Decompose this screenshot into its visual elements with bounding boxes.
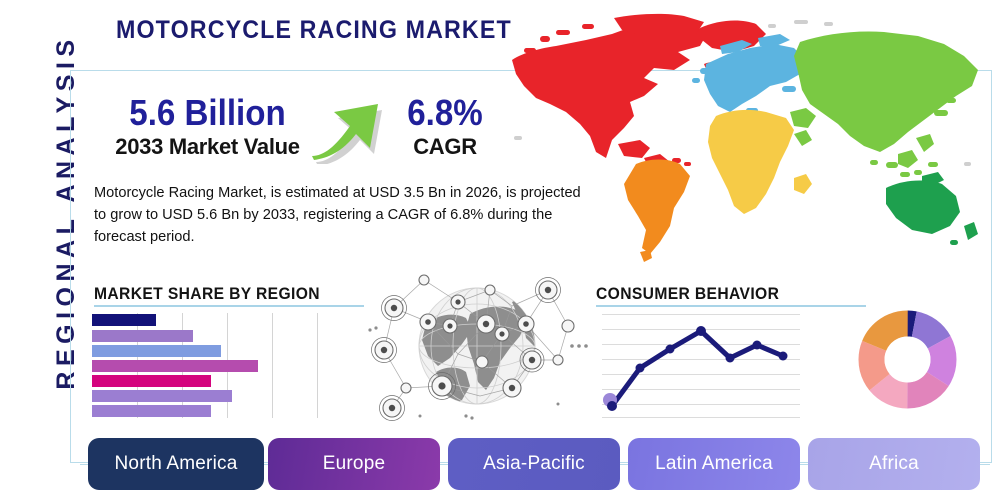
page-title: MOTORCYCLE RACING MARKET: [116, 16, 512, 45]
bar-chart-svg: [92, 313, 362, 418]
region-pill-latin-america[interactable]: Latin America: [628, 438, 800, 490]
growth-arrow-icon: [312, 84, 396, 164]
section-heading-market-share: MARKET SHARE BY REGION: [94, 284, 320, 304]
consumer-behavior-line-chart: [602, 312, 800, 420]
region-pill-asia-pacific[interactable]: Asia-Pacific: [448, 438, 620, 490]
region-pill-label: North America: [115, 453, 238, 475]
region-pill-label: Europe: [323, 453, 385, 475]
market-share-rule: [94, 305, 364, 307]
kpi-market-value-label: 2033 Market Value: [95, 134, 320, 159]
line-chart-svg: [602, 312, 800, 420]
side-label-regional-analysis: REGIONAL ANALYSIS: [52, 22, 92, 402]
region-pill-bar: North America Europe Asia-Pacific Latin …: [80, 438, 970, 490]
region-share-donut-chart: [855, 307, 960, 412]
market-share-bar-chart: [92, 313, 362, 418]
kpi-cagr-number: 6.8%: [394, 94, 495, 132]
region-pill-label: Latin America: [655, 453, 773, 475]
region-pill-north-america[interactable]: North America: [88, 438, 264, 490]
kpi-cagr: 6.8% CAGR: [390, 94, 500, 159]
network-globe-icon: [362, 268, 592, 428]
kpi-cagr-label: CAGR: [390, 134, 500, 159]
world-map-icon: [494, 12, 994, 267]
region-pill-label: Asia-Pacific: [483, 453, 585, 475]
region-pill-europe[interactable]: Europe: [268, 438, 440, 490]
section-heading-consumer-behavior: CONSUMER BEHAVIOR: [596, 284, 779, 304]
infographic-root: REGIONAL ANALYSIS MOTORCYCLE RACING MARK…: [0, 0, 1000, 500]
kpi-market-value-number: 5.6 Billion: [104, 94, 311, 132]
region-pill-africa[interactable]: Africa: [808, 438, 980, 490]
region-pill-label: Africa: [869, 453, 919, 475]
kpi-market-value: 5.6 Billion 2033 Market Value: [95, 94, 320, 159]
donut-chart-svg: [855, 307, 960, 412]
consumer-behavior-rule: [596, 305, 866, 307]
